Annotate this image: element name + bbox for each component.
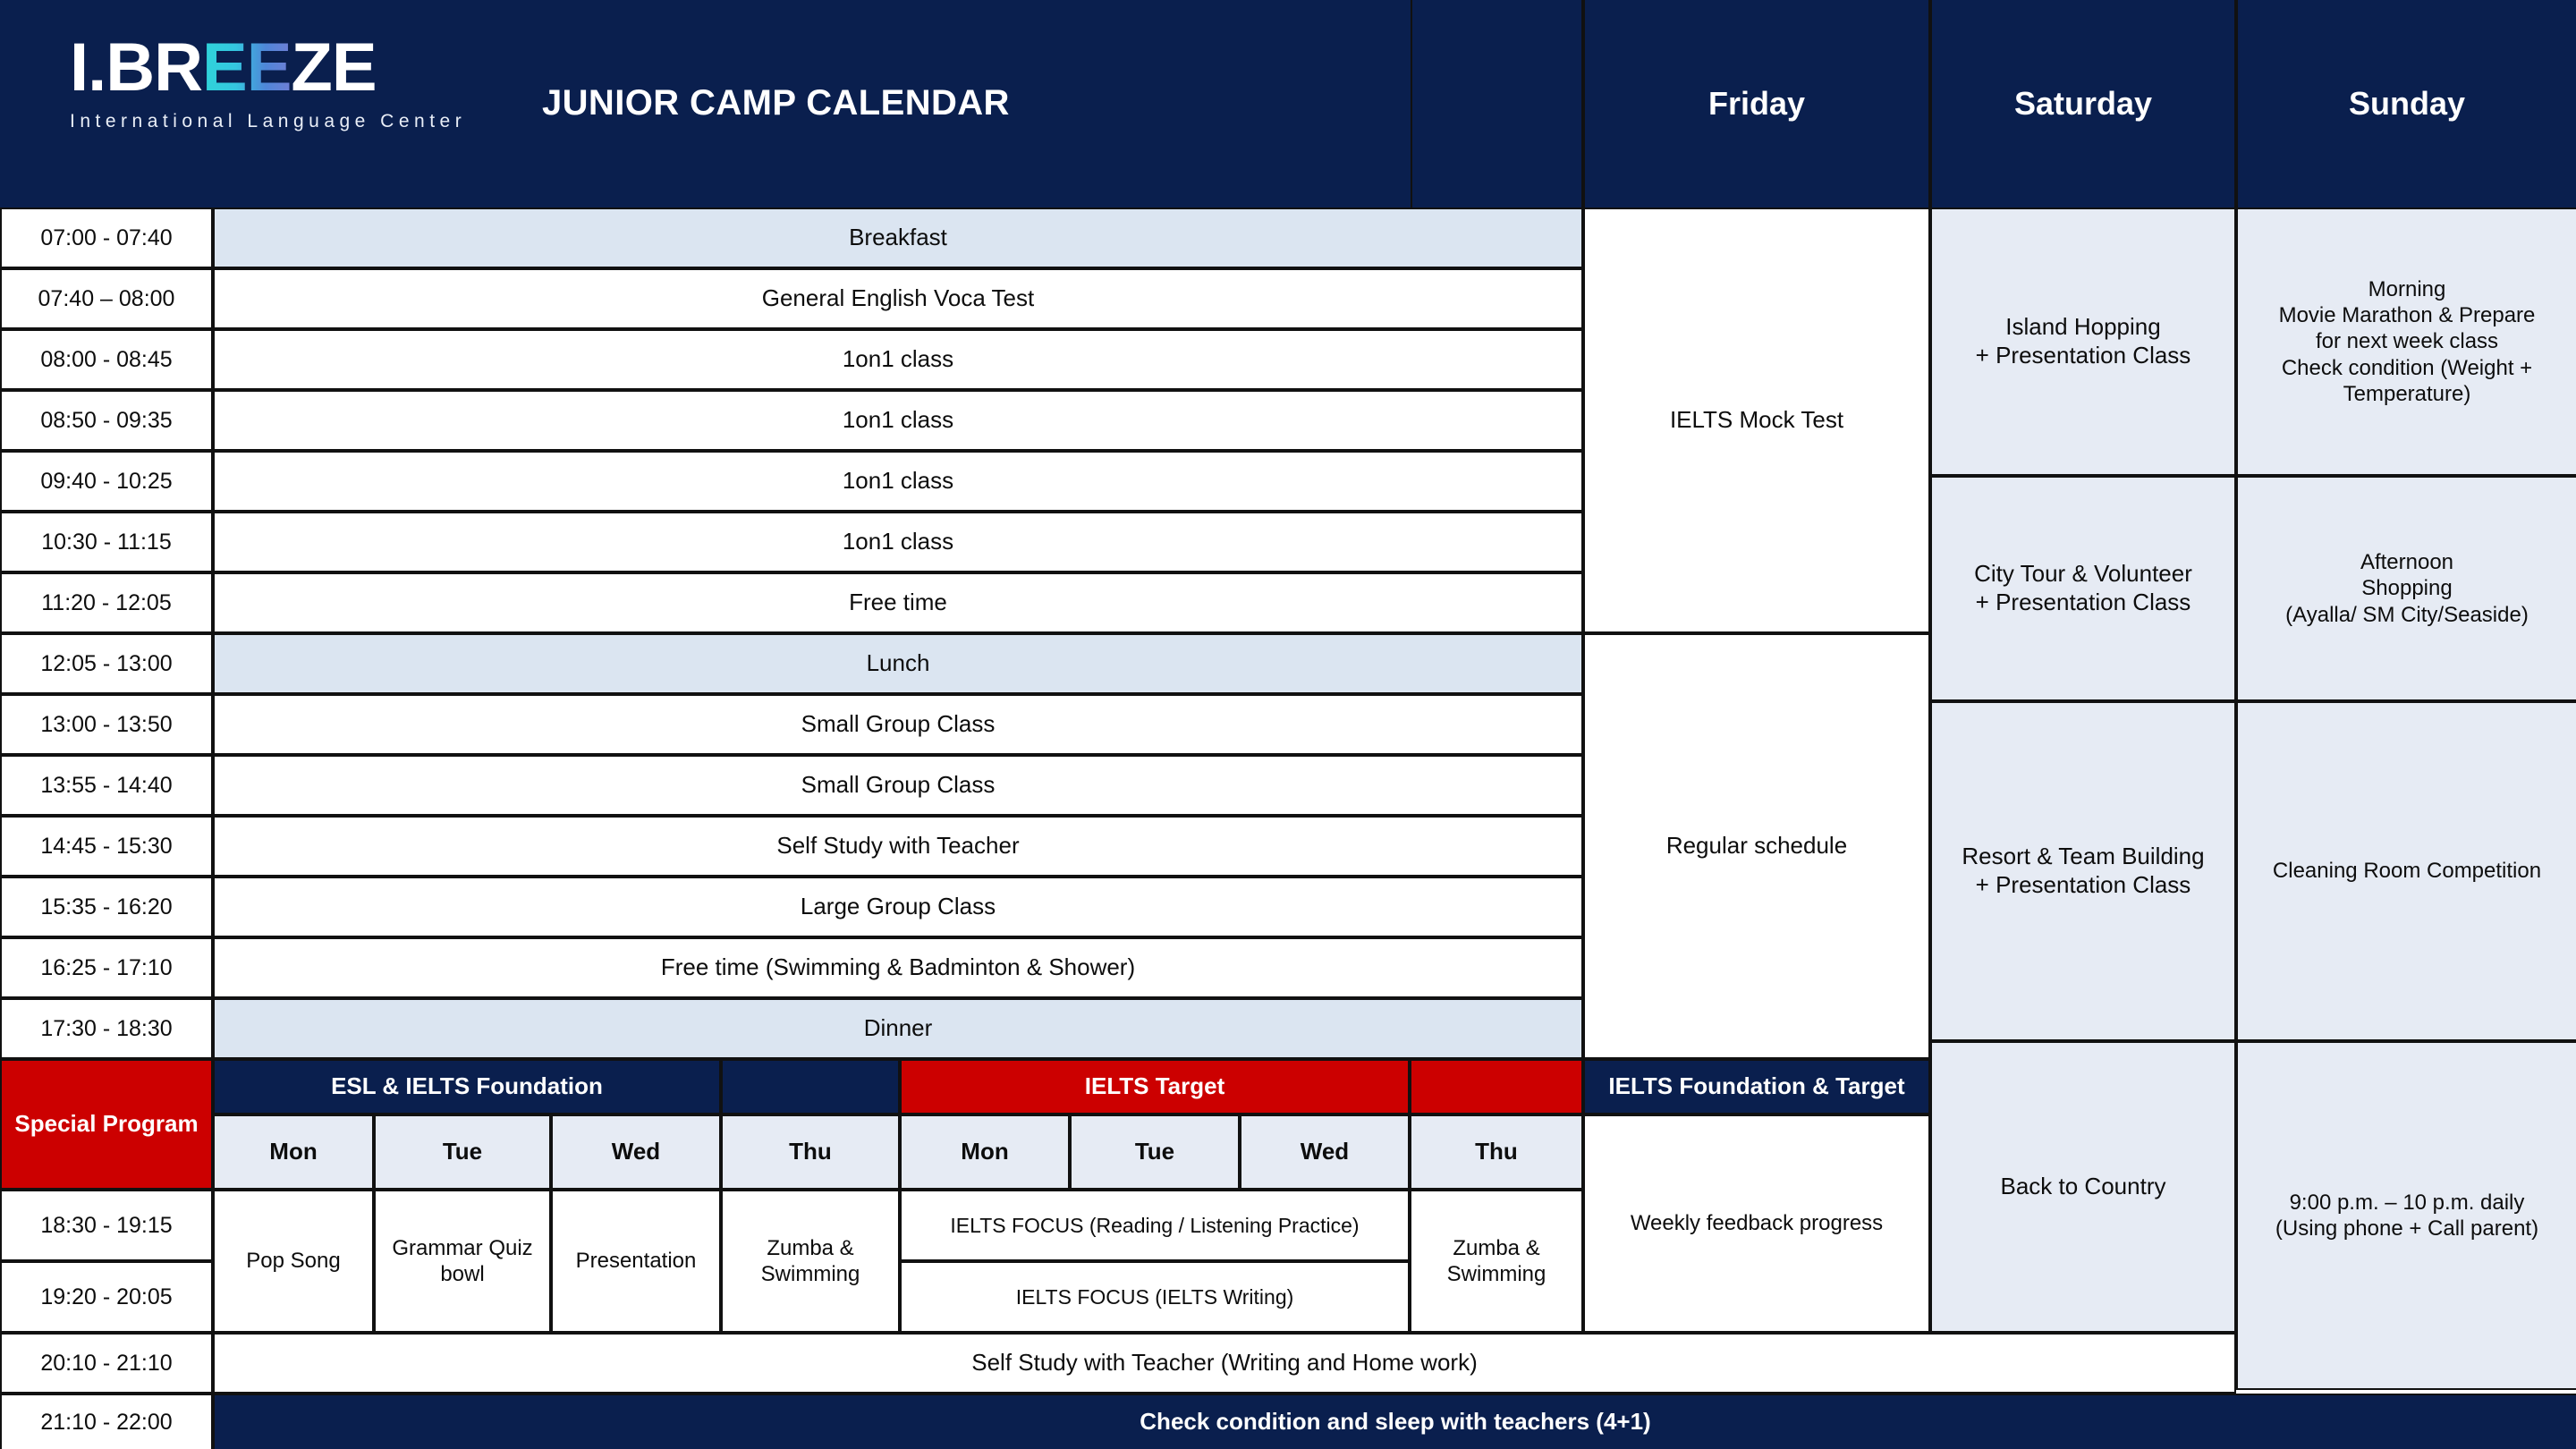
activity-large-group: Large Group Class	[213, 877, 1583, 937]
footer-sleep: Check condition and sleep with teachers …	[213, 1394, 2576, 1449]
footer-self-study: Self Study with Teacher (Writing and Hom…	[213, 1333, 2236, 1394]
band-target-thu-filler	[1410, 1059, 1583, 1114]
time-cell-10: 14:45 - 15:30	[0, 816, 213, 877]
time-cell-8: 13:00 - 13:50	[0, 694, 213, 755]
friday-weekly-feedback: Weekly feedback progress	[1583, 1114, 1930, 1333]
evening-esl-mon: Pop Song	[213, 1190, 374, 1333]
saturday-midday: City Tour & Volunteer + Presentation Cla…	[1930, 476, 2236, 701]
activity-self-study-teacher: Self Study with Teacher	[213, 816, 1583, 877]
activity-1on1-1: 1on1 class	[213, 329, 1583, 390]
friday-mock-test: IELTS Mock Test	[1583, 208, 1930, 633]
dow-target-tue: Tue	[1070, 1114, 1240, 1190]
time-cell-3: 08:50 - 09:35	[0, 390, 213, 451]
header-day-saturday: Saturday	[1930, 0, 2236, 208]
time-cell-4: 09:40 - 10:25	[0, 451, 213, 512]
time-cell-12: 16:25 - 17:10	[0, 937, 213, 998]
sunday-midday: Afternoon Shopping (Ayalla/ SM City/Seas…	[2236, 476, 2576, 701]
activity-dinner: Dinner	[213, 998, 1583, 1059]
time-cell-16: 20:10 - 21:10	[0, 1333, 213, 1394]
brand-logo: I.BREEZE International Language Center	[70, 34, 490, 168]
saturday-afternoon: Resort & Team Building + Presentation Cl…	[1930, 701, 2236, 1041]
time-cell-9: 13:55 - 14:40	[0, 755, 213, 816]
evening-target-thu: Zumba & Swimming	[1410, 1190, 1583, 1333]
time-cell-15: 19:20 - 20:05	[0, 1261, 213, 1333]
logo-text-right: ZE	[291, 30, 376, 106]
sunday-morning: Morning Movie Marathon & Prepare for nex…	[2236, 208, 2576, 476]
special-program-label: Special Program	[0, 1059, 213, 1190]
time-cell-17: 21:10 - 22:00	[0, 1394, 213, 1449]
dow-esl-tue: Tue	[374, 1114, 551, 1190]
friday-program-band: IELTS Foundation & Target	[1583, 1059, 1930, 1114]
evening-target-writing: IELTS FOCUS (IELTS Writing)	[900, 1261, 1410, 1333]
time-cell-13: 17:30 - 18:30	[0, 998, 213, 1059]
activity-lunch: Lunch	[213, 633, 1583, 694]
evening-esl-wed: Presentation	[551, 1190, 721, 1333]
header-spacer-1	[1411, 0, 1583, 208]
logo-text-gradient: EE	[202, 30, 291, 106]
sunday-evening: 9:00 p.m. – 10 p.m. daily (Using phone +…	[2236, 1041, 2576, 1390]
evening-esl-tue: Grammar Quiz bowl	[374, 1190, 551, 1333]
dow-target-wed: Wed	[1240, 1114, 1410, 1190]
friday-regular-schedule: Regular schedule	[1583, 633, 1930, 1059]
time-cell-11: 15:35 - 16:20	[0, 877, 213, 937]
page-title: JUNIOR CAMP CALENDAR	[537, 63, 1431, 143]
activity-voca-test: General English Voca Test	[213, 268, 1583, 329]
saturday-morning: Island Hopping + Presentation Class	[1930, 208, 2236, 476]
time-cell-2: 08:00 - 08:45	[0, 329, 213, 390]
time-cell-5: 10:30 - 11:15	[0, 512, 213, 572]
header-day-friday: Friday	[1583, 0, 1930, 208]
logo-wordmark: I.BREEZE	[70, 34, 490, 102]
logo-subtitle: International Language Center	[70, 111, 490, 132]
evening-esl-thu: Zumba & Swimming	[721, 1190, 900, 1333]
dow-target-thu: Thu	[1410, 1114, 1583, 1190]
activity-1on1-4: 1on1 class	[213, 512, 1583, 572]
dow-esl-wed: Wed	[551, 1114, 721, 1190]
band-esl-thu-filler	[721, 1059, 900, 1114]
time-cell-0: 07:00 - 07:40	[0, 208, 213, 268]
band-esl-ielts-foundation: ESL & IELTS Foundation	[213, 1059, 721, 1114]
header-day-sunday: Sunday	[2236, 0, 2576, 208]
activity-breakfast: Breakfast	[213, 208, 1583, 268]
evening-target-reading-listening: IELTS FOCUS (Reading / Listening Practic…	[900, 1190, 1410, 1261]
junior-camp-calendar: I.BREEZE International Language Center J…	[0, 0, 2576, 1449]
band-ielts-target: IELTS Target	[900, 1059, 1410, 1114]
saturday-evening: Back to Country	[1930, 1041, 2236, 1333]
time-cell-6: 11:20 - 12:05	[0, 572, 213, 633]
time-cell-14: 18:30 - 19:15	[0, 1190, 213, 1261]
activity-small-group-2: Small Group Class	[213, 755, 1583, 816]
dow-esl-thu: Thu	[721, 1114, 900, 1190]
activity-free-time-evening: Free time (Swimming & Badminton & Shower…	[213, 937, 1583, 998]
activity-free-time-morning: Free time	[213, 572, 1583, 633]
logo-text-left: I.BR	[70, 30, 202, 106]
activity-1on1-3: 1on1 class	[213, 451, 1583, 512]
activity-1on1-2: 1on1 class	[213, 390, 1583, 451]
sunday-afternoon: Cleaning Room Competition	[2236, 701, 2576, 1041]
dow-target-mon: Mon	[900, 1114, 1070, 1190]
dow-esl-mon: Mon	[213, 1114, 374, 1190]
time-cell-1: 07:40 – 08:00	[0, 268, 213, 329]
activity-small-group-1: Small Group Class	[213, 694, 1583, 755]
time-cell-7: 12:05 - 13:00	[0, 633, 213, 694]
